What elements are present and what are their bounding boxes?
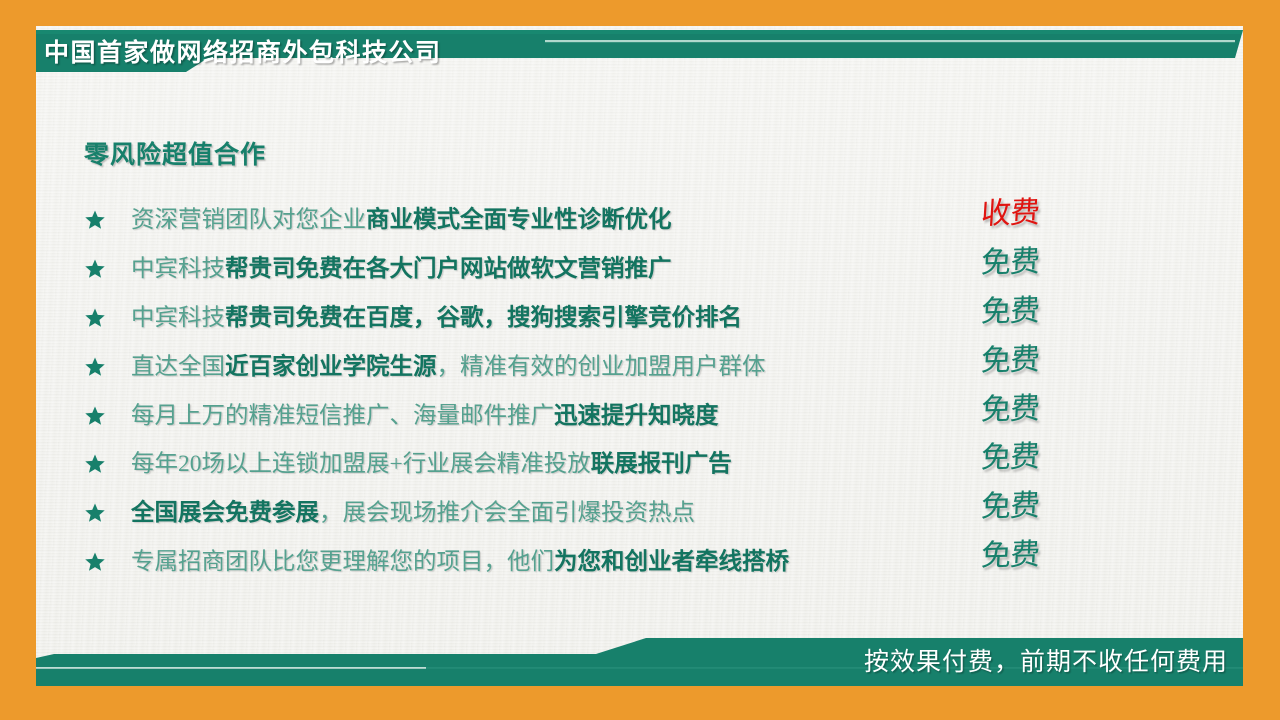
list-item[interactable]: 每月上万的精准短信推广、海量邮件推广迅速提升知晓度: [84, 391, 1084, 440]
price-cell: 免费: [950, 288, 1070, 337]
list-item-tail: ，展会现场推介会全面引爆投资热点: [319, 500, 695, 526]
list-item-emphasis: 帮贵司免费在百度，谷歌，搜狗搜索引擎竞价排名: [225, 305, 742, 331]
list-item-text: 全国展会免费参展，展会现场推介会全面引爆投资热点: [131, 498, 695, 528]
list-item-text: 专属招商团队比您更理解您的项目，他们为您和创业者牵线搭桥: [131, 547, 789, 577]
list-item-text: 中宾科技帮贵司免费在各大门户网站做软文营销推广: [131, 254, 672, 284]
list-item-lead: 直达全国: [131, 354, 225, 380]
status-badge-free: 免费: [980, 245, 1040, 281]
status-badge-free: 免费: [980, 294, 1040, 330]
star-icon: [84, 502, 106, 524]
star-icon: [84, 307, 106, 329]
footer-text: 按效果付费，前期不收任何费用: [864, 646, 1228, 678]
list-item-lead: 资深营销团队对您企业: [131, 207, 366, 233]
list-item-text: 直达全国近百家创业学院生源，精准有效的创业加盟用户群体: [131, 352, 766, 382]
list-item-lead: 每月上万的精准短信推广、海量邮件推广: [131, 403, 554, 429]
list-item-text: 中宾科技帮贵司免费在百度，谷歌，搜狗搜索引擎竞价排名: [131, 303, 742, 333]
list-item-text: 每月上万的精准短信推广、海量邮件推广迅速提升知晓度: [131, 401, 719, 431]
list-item-emphasis: 帮贵司免费在各大门户网站做软文营销推广: [225, 256, 672, 282]
price-cell: 免费: [950, 483, 1070, 532]
list-item-lead: 专属招商团队比您更理解您的项目，他们: [131, 549, 554, 575]
page-title: 零风险超值合作: [84, 135, 266, 171]
price-column: 收费 免费 免费 免费 免费 免费 免费 免费: [950, 190, 1070, 580]
status-badge-paid: 收费: [980, 197, 1040, 233]
price-cell: 免费: [950, 239, 1070, 288]
status-badge-free: 免费: [980, 441, 1040, 477]
list-item-emphasis: 全国展会免费参展: [131, 500, 319, 526]
star-icon: [84, 453, 106, 475]
list-item-emphasis: 近百家创业学院生源: [225, 354, 437, 380]
list-item-emphasis: 为您和创业者牵线搭桥: [554, 549, 789, 575]
price-cell: 收费: [950, 190, 1070, 239]
price-cell: 免费: [950, 385, 1070, 434]
status-badge-free: 免费: [980, 343, 1040, 379]
star-icon: [84, 551, 106, 573]
list-item[interactable]: 资深营销团队对您企业商业模式全面专业性诊断优化: [84, 196, 1084, 245]
price-cell: 免费: [950, 532, 1070, 581]
list-item-lead: 中宾科技: [131, 256, 225, 282]
list-item-tail: ，精准有效的创业加盟用户群体: [437, 354, 766, 380]
list-item-lead: 中宾科技: [131, 305, 225, 331]
list-item[interactable]: 中宾科技帮贵司免费在各大门户网站做软文营销推广: [84, 245, 1084, 294]
price-cell: 免费: [950, 434, 1070, 483]
list-item-emphasis: 迅速提升知晓度: [554, 403, 719, 429]
star-icon: [84, 209, 106, 231]
list-item[interactable]: 直达全国近百家创业学院生源，精准有效的创业加盟用户群体: [84, 342, 1084, 391]
star-icon: [84, 258, 106, 280]
list-item-text: 资深营销团队对您企业商业模式全面专业性诊断优化: [131, 205, 672, 235]
star-icon: [84, 405, 106, 427]
list-item[interactable]: 专属招商团队比您更理解您的项目，他们为您和创业者牵线搭桥: [84, 538, 1084, 587]
list-item[interactable]: 每年20场以上连锁加盟展+行业展会精准投放联展报刊广告: [84, 440, 1084, 489]
price-cell: 免费: [950, 336, 1070, 385]
benefits-list: 资深营销团队对您企业商业模式全面专业性诊断优化 中宾科技帮贵司免费在各大门户网站…: [84, 196, 1084, 586]
list-item-lead: 每年20场以上连锁加盟展+行业展会精准投放: [131, 451, 591, 477]
list-item[interactable]: 中宾科技帮贵司免费在百度，谷歌，搜狗搜索引擎竞价排名: [84, 294, 1084, 343]
status-badge-free: 免费: [980, 489, 1040, 525]
slide-root: 中国首家做网络招商外包科技公司 零风险超值合作 资深营销团队对您企业商业模式全面…: [0, 0, 1280, 720]
list-item[interactable]: 全国展会免费参展，展会现场推介会全面引爆投资热点: [84, 489, 1084, 538]
status-badge-free: 免费: [980, 538, 1040, 574]
star-icon: [84, 356, 106, 378]
header-title: 中国首家做网络招商外包科技公司: [44, 38, 442, 68]
status-badge-free: 免费: [980, 392, 1040, 428]
list-item-emphasis: 联展报刊广告: [591, 451, 732, 477]
list-item-emphasis: 商业模式全面专业性诊断优化: [366, 207, 672, 233]
list-item-text: 每年20场以上连锁加盟展+行业展会精准投放联展报刊广告: [131, 449, 732, 479]
